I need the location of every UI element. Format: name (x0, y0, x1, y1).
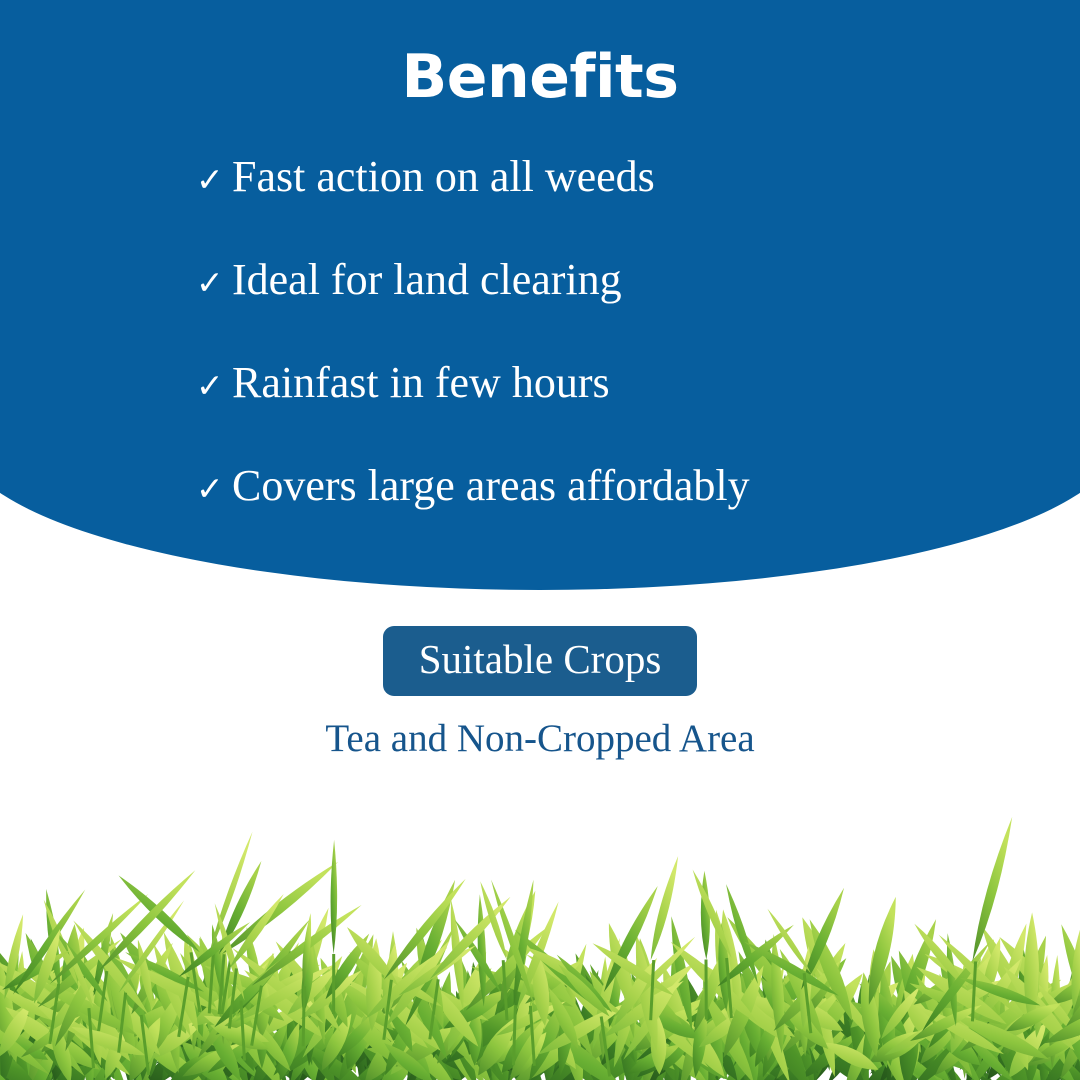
product-benefits-card: Benefits ✓ Fast action on all weeds ✓ Id… (0, 0, 1080, 1080)
tea-plants-photo (0, 800, 1080, 1080)
page-title: Benefits (0, 0, 1080, 109)
list-item: ✓ Rainfast in few hours (0, 361, 1080, 464)
benefit-label: Rainfast in few hours (232, 361, 610, 405)
benefit-label: Ideal for land clearing (232, 258, 622, 302)
check-icon: ✓ (196, 369, 232, 402)
suitable-crops-section: Suitable Crops Tea and Non-Cropped Area (0, 626, 1080, 761)
tea-plants-illustration (0, 800, 1080, 1080)
benefit-label: Fast action on all weeds (232, 155, 655, 199)
benefits-content: Benefits ✓ Fast action on all weeds ✓ Id… (0, 0, 1080, 567)
suitable-crops-badge: Suitable Crops (383, 626, 698, 696)
check-icon: ✓ (196, 266, 232, 299)
benefits-list: ✓ Fast action on all weeds ✓ Ideal for l… (0, 155, 1080, 567)
list-item: ✓ Fast action on all weeds (0, 155, 1080, 258)
check-icon: ✓ (196, 472, 232, 505)
benefit-label: Covers large areas affordably (232, 464, 750, 508)
suitable-crops-subtitle: Tea and Non-Cropped Area (0, 718, 1080, 761)
check-icon: ✓ (196, 163, 232, 196)
list-item: ✓ Covers large areas affordably (0, 464, 1080, 567)
list-item: ✓ Ideal for land clearing (0, 258, 1080, 361)
